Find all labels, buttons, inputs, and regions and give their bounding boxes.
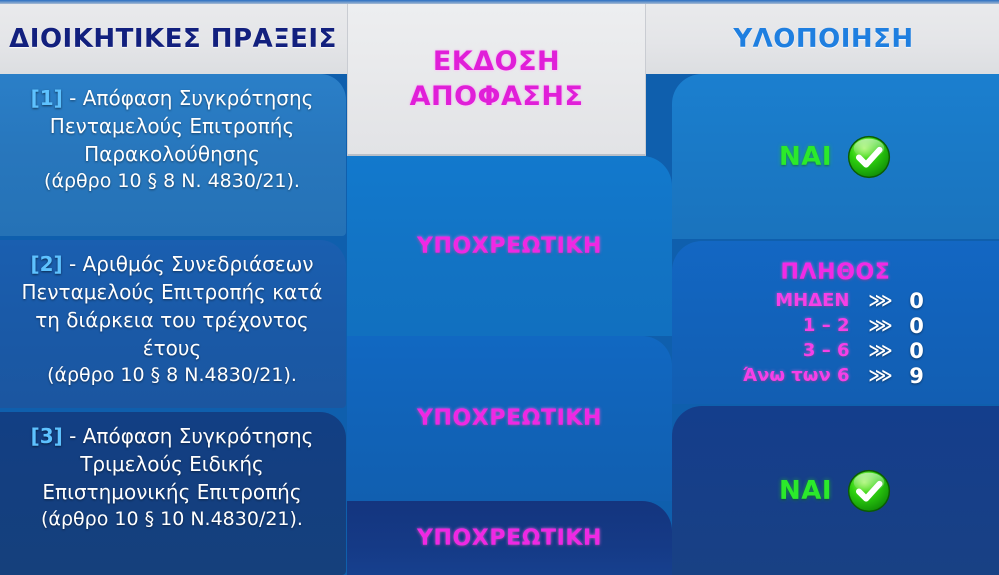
act-card-2[interactable]: [2] - Αριθμός Συνεδριάσεων Πενταμελούς Ε… (0, 240, 346, 408)
counts-row: 3 – 6 ⋙ 0 (740, 339, 932, 363)
counts-row: ΜΗΔΕΝ ⋙ 0 (740, 289, 932, 313)
administrative-acts-column: [1] - Απόφαση Συγκρότησης Πενταμελούς Επ… (0, 74, 346, 575)
column-header-administrative-acts: ΔΙΟΙΚΗΤΙΚΕΣ ΠΡΑΞΕΙΣ (0, 4, 346, 74)
counts-row: Άνω των 6 ⋙ 9 (740, 364, 932, 388)
counts-row-value: 9 (902, 364, 932, 388)
issuance-cell-2[interactable]: ΥΠΟΧΡΕΩΤΙΚΗ (347, 336, 672, 501)
green-check-icon (846, 134, 892, 180)
column-header-administrative-acts-label: ΔΙΟΙΚΗΤΙΚΕΣ ΠΡΑΞΕΙΣ (9, 24, 337, 54)
counts-row-label: ΜΗΔΕΝ (740, 290, 858, 311)
implementation-cell-1-yes: ΝΑΙ (779, 134, 892, 180)
counts-row-label: 1 – 2 (740, 315, 858, 336)
implementation-cell-3-yes: ΝΑΙ (779, 468, 892, 514)
implementation-cell-3[interactable]: ΝΑΙ (672, 406, 999, 575)
act-card-3[interactable]: [3] - Απόφαση Συγκρότησης Τριμελούς Ειδι… (0, 412, 346, 575)
counts-row-value: 0 (902, 314, 932, 338)
act-card-1[interactable]: [1] - Απόφαση Συγκρότησης Πενταμελούς Επ… (0, 74, 346, 236)
counts-arrow-icon: ⋙ (858, 316, 902, 336)
counts-rows: ΜΗΔΕΝ ⋙ 0 1 – 2 ⋙ 0 3 – 6 ⋙ 0 Άνω των 6 … (740, 289, 932, 388)
act-card-3-index: [3] (31, 424, 63, 448)
act-card-3-dash: - (63, 424, 83, 448)
implementation-cell-2-counts: ΠΛΗΘΟΣ ΜΗΔΕΝ ⋙ 0 1 – 2 ⋙ 0 3 – 6 ⋙ 0 (672, 258, 999, 388)
counts-arrow-icon: ⋙ (858, 366, 902, 386)
act-card-3-title-text: Απόφαση Συγκρότησης Τριμελούς Ειδικής Επ… (42, 424, 313, 504)
implementation-column: ΝΑΙ (672, 0, 999, 575)
act-card-1-title: [1] - Απόφαση Συγκρότησης Πενταμελούς Επ… (14, 84, 330, 168)
counts-row-value: 0 (902, 339, 932, 363)
implementation-cell-2[interactable]: ΠΛΗΘΟΣ ΜΗΔΕΝ ⋙ 0 1 – 2 ⋙ 0 3 – 6 ⋙ 0 (672, 241, 999, 404)
counts-row: 1 – 2 ⋙ 0 (740, 314, 932, 338)
counts-arrow-icon: ⋙ (858, 341, 902, 361)
counts-arrow-icon: ⋙ (858, 291, 902, 311)
implementation-cell-1-label: ΝΑΙ (779, 142, 832, 172)
implementation-cell-3-label: ΝΑΙ (779, 476, 832, 506)
issuance-cell-1[interactable]: ΥΠΟΧΡΕΩΤΙΚΗ (347, 156, 672, 336)
act-card-1-title-text: Απόφαση Συγκρότησης Πενταμελούς Επιτροπή… (50, 86, 314, 166)
act-card-2-title: [2] - Αριθμός Συνεδριάσεων Πενταμελούς Ε… (14, 250, 330, 362)
act-card-1-index: [1] (31, 86, 63, 110)
counts-row-label: Άνω των 6 (740, 365, 858, 386)
act-card-2-index: [2] (30, 252, 62, 276)
counts-title: ΠΛΗΘΟΣ (781, 260, 891, 285)
issuance-cell-2-label: ΥΠΟΧΡΕΩΤΙΚΗ (417, 406, 602, 431)
green-check-icon (846, 468, 892, 514)
issuance-cell-3[interactable]: ΥΠΟΧΡΕΩΤΙΚΗ (347, 501, 672, 575)
issuance-cell-3-label: ΥΠΟΧΡΕΩΤΙΚΗ (417, 526, 602, 551)
act-card-3-reference: (άρθρο 10 § 10 Ν.4830/21). (41, 506, 303, 533)
counts-row-label: 3 – 6 (740, 340, 858, 361)
counts-row-value: 0 (902, 289, 932, 313)
act-card-3-title: [3] - Απόφαση Συγκρότησης Τριμελούς Ειδι… (14, 422, 330, 506)
implementation-cell-1[interactable]: ΝΑΙ (672, 74, 999, 239)
decision-issuance-column: ΥΠΟΧΡΕΩΤΙΚΗ ΥΠΟΧΡΕΩΤΙΚΗ ΥΠΟΧΡΕΩΤΙΚΗ (347, 0, 672, 575)
act-card-2-reference: (άρθρο 10 § 8 Ν.4830/21). (47, 362, 297, 389)
issuance-cell-1-label: ΥΠΟΧΡΕΩΤΙΚΗ (417, 234, 602, 259)
act-card-1-dash: - (63, 86, 83, 110)
act-card-1-reference: (άρθρο 10 § 8 Ν. 4830/21). (44, 168, 300, 195)
act-card-2-dash: - (63, 252, 83, 276)
